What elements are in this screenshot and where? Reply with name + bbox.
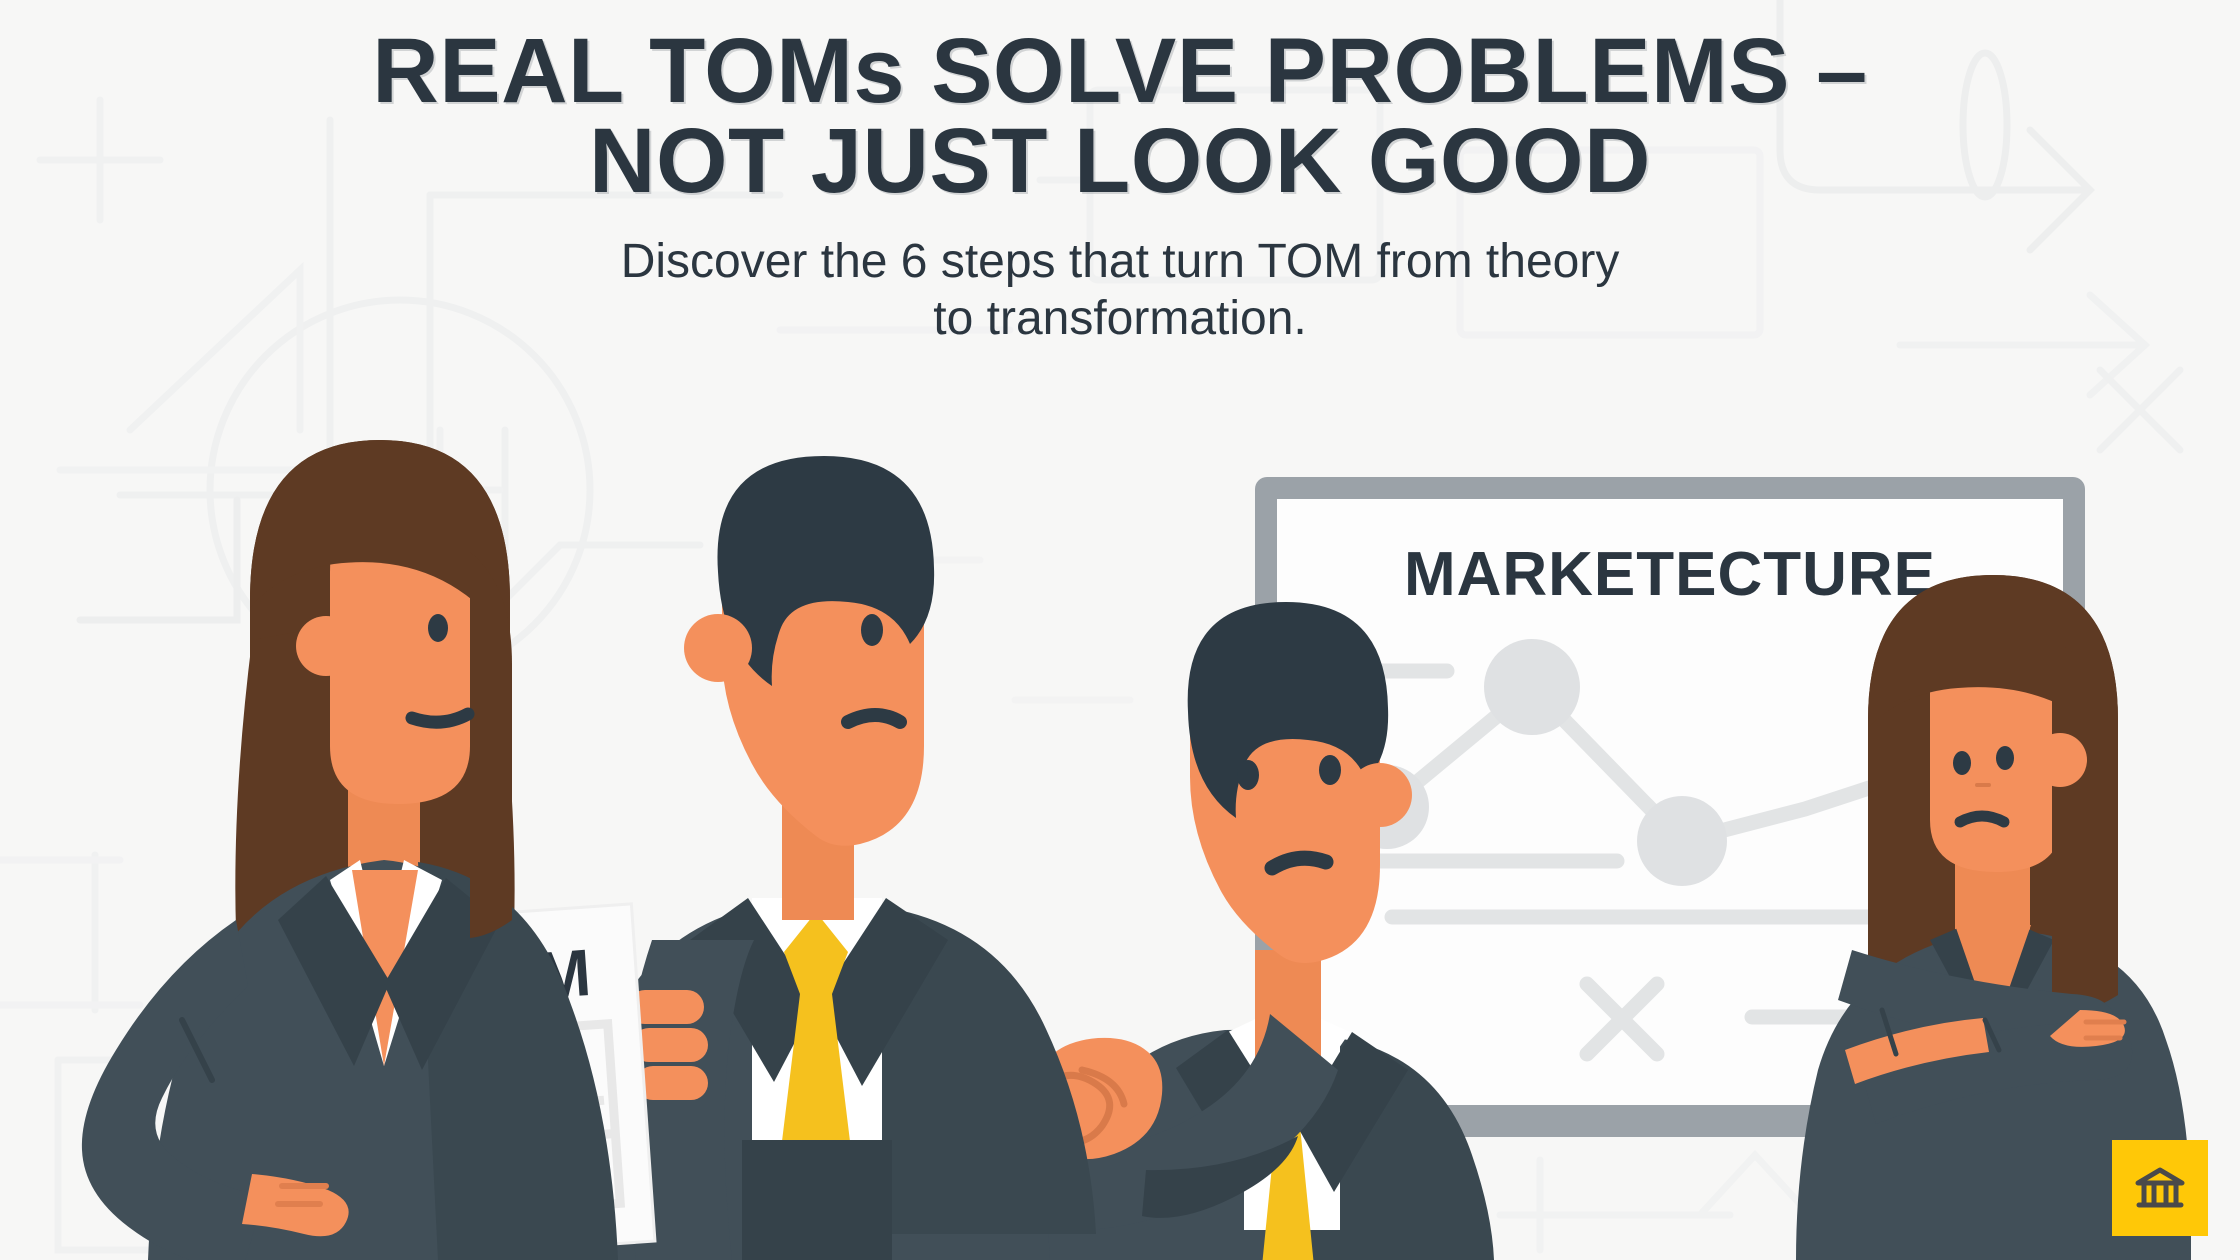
man-pointing-eye-right <box>1319 755 1341 785</box>
logo-badge[interactable] <box>2112 1140 2208 1236</box>
woman-right-ear <box>2033 733 2087 787</box>
woman-left-ear <box>296 616 356 676</box>
woman-right-mouth <box>1960 816 2004 822</box>
man-center-mouth <box>848 715 900 722</box>
man-pointing-ear <box>1348 763 1412 827</box>
woman-right-eye-right <box>1996 746 2014 770</box>
page-subtitle: Discover the 6 steps that turn TOM from … <box>0 234 2240 347</box>
woman-left-eye <box>428 614 448 642</box>
title-line-1: REAL TOMs SOLVE PROBLEMS – <box>0 26 2240 116</box>
man-center-trousers <box>742 1140 892 1260</box>
man-pointing-eye-left <box>1237 760 1259 790</box>
headline-block: REAL TOMs SOLVE PROBLEMS – NOT JUST LOOK… <box>0 26 2240 348</box>
man-center-eye <box>861 614 883 646</box>
woman-right-eye-left <box>1953 751 1971 775</box>
bank-building-icon <box>2129 1157 2191 1219</box>
page-title: REAL TOMs SOLVE PROBLEMS – NOT JUST LOOK… <box>0 26 2240 206</box>
poster-canvas: REAL TOMs SOLVE PROBLEMS – NOT JUST LOOK… <box>0 0 2240 1260</box>
subtitle-line-2: to transformation. <box>0 291 2240 348</box>
person-woman-left <box>82 440 618 1260</box>
title-line-2: NOT JUST LOOK GOOD <box>0 116 2240 206</box>
subtitle-line-1: Discover the 6 steps that turn TOM from … <box>0 234 2240 291</box>
man-center-ear <box>684 614 752 682</box>
